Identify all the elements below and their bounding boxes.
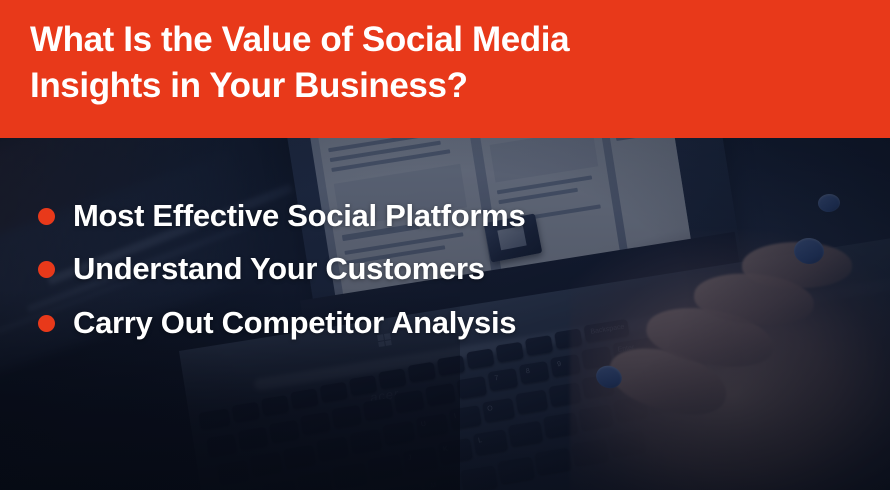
page-title: What Is the Value of Social Media Insigh…: [30, 17, 840, 108]
list-item-label: Understand Your Customers: [73, 251, 485, 287]
bullet-dot-icon: [38, 208, 55, 225]
bullet-dot-icon: [38, 261, 55, 278]
infographic-poster: acer: [0, 0, 890, 490]
list-item: Carry Out Competitor Analysis: [38, 305, 516, 341]
bullet-dot-icon: [38, 315, 55, 332]
list-item: Understand Your Customers: [38, 251, 485, 287]
list-item: Most Effective Social Platforms: [38, 198, 525, 234]
benefits-list: Most Effective Social Platforms Understa…: [0, 138, 890, 490]
list-item-label: Most Effective Social Platforms: [73, 198, 525, 234]
page-title-line-1: What Is the Value of Social Media: [30, 17, 840, 63]
header-banner: What Is the Value of Social Media Insigh…: [0, 0, 890, 138]
page-title-line-2: Insights in Your Business?: [30, 63, 840, 109]
list-item-label: Carry Out Competitor Analysis: [73, 305, 516, 341]
